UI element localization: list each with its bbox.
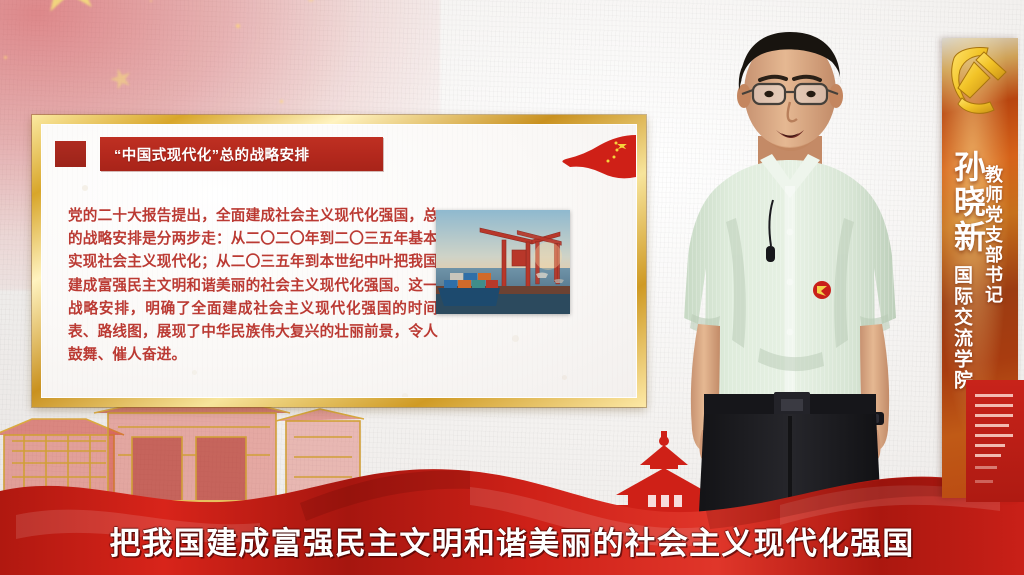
slide-title-row: “中国式现代化”总的战略安排 <box>42 137 636 171</box>
slide-title-bar: “中国式现代化”总的战略安排 <box>100 137 383 171</box>
china-flag-icon <box>556 133 636 185</box>
banner-presenter-title: 教师党支部书记 <box>980 165 1006 305</box>
slide-body-text: 党的二十大报告提出，全面建成社会主义现代化强国，总的战略安排是分两步走：从二〇二… <box>68 205 438 367</box>
party-emblem-pin-icon <box>813 281 831 299</box>
title-accent-block <box>55 141 86 167</box>
slide-content: “中国式现代化”总的战略安排 党的二十大报告提出，全面建成社会主义现代化强国，总… <box>41 124 637 398</box>
five-pointed-star-icon <box>107 65 135 93</box>
presenter-name-banner: 孙晓新 教师党支部书记 国际交流学院 <box>942 0 1018 520</box>
hammer-and-sickle-icon <box>944 42 1018 120</box>
banner-stripe-block <box>966 380 1024 502</box>
subtitle-caption: 把我国建成富强民主文明和谐美丽的社会主义现代化强国 <box>0 518 1024 563</box>
slide-title: “中国式现代化”总的战略安排 <box>114 144 310 165</box>
presentation-slide[interactable]: “中国式现代化”总的战略安排 党的二十大报告提出，全面建成社会主义现代化强国，总… <box>32 115 646 407</box>
video-frame: “中国式现代化”总的战略安排 党的二十大报告提出，全面建成社会主义现代化强国，总… <box>0 0 1024 575</box>
five-pointed-star-icon <box>28 0 107 20</box>
container-port-photo <box>436 210 570 314</box>
banner-presenter-department: 国际交流学院 <box>948 265 975 391</box>
